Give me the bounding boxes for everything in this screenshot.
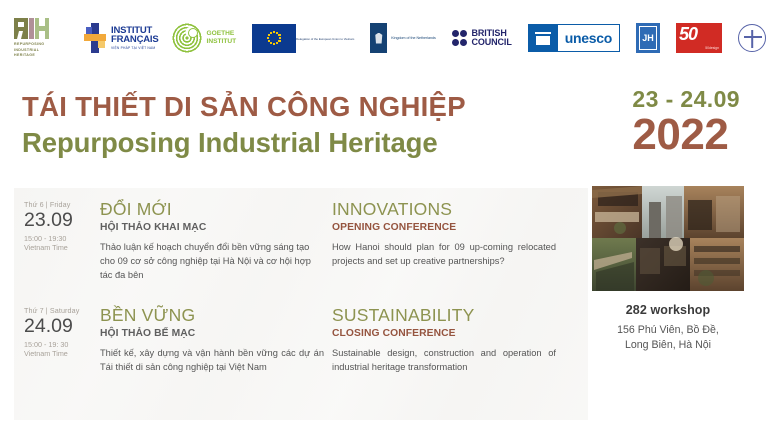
session-1-vietnamese: ĐỔI MỚI HỘI THẢO KHAI MẠC Thảo luận kế h… [100, 200, 332, 283]
session-2-vietnamese: BỀN VỮNG HỘI THẢO BẾ MẠC Thiết kế, xây d… [100, 306, 332, 375]
venue-address-line1: 156 Phú Viên, Bồ Đề, [617, 324, 719, 336]
fifty-design-logo: 50 50design [676, 23, 722, 53]
unesco-wordmark: unesco [558, 30, 619, 46]
page-title-vi: TÁI THIẾT DI SẢN CÔNG NGHIỆP [22, 92, 466, 123]
event-date-days: 23 - 24.09 [632, 88, 740, 111]
fifty-number: 50 [679, 24, 697, 45]
venue-name: 282 workshop [592, 303, 744, 317]
sessions-panel: Thứ 6 | Friday 23.09 15:00 - 19:30 Vietn… [14, 188, 588, 420]
kingdom-of-the-netherlands-logo: Kingdom of the Netherlands [370, 23, 436, 53]
netherlands-caption: Kingdom of the Netherlands [391, 36, 436, 40]
fifty-caption: 50design [705, 46, 719, 50]
goethe-line1: GOETHE [206, 30, 236, 38]
poster-title-block: TÁI THIẾT DI SẢN CÔNG NGHIỆP Repurposing… [22, 92, 466, 159]
partner-logo-bar: REPURPOSINGINDUSTRIALHERITAGE INSTITUT F… [14, 10, 756, 66]
session-1-en-heading: INNOVATIONS [332, 200, 556, 219]
eu-logo-caption: Delegation of the European Union to Viet… [296, 37, 354, 41]
venue-address: 156 Phú Viên, Bồ Đề, Long Biên, Hà Nội [592, 323, 744, 352]
session-1-en-subheading: OPENING CONFERENCE [332, 222, 556, 233]
venue-photo-svg [592, 186, 744, 291]
session-1-timezone: Vietnam Time [24, 243, 100, 252]
session-2-english: SUSTAINABILITY CLOSING CONFERENCE Sustai… [332, 306, 564, 375]
event-date-block: 23 - 24.09 2022 [632, 88, 740, 158]
session-row-2: Thứ 7 | Saturday 24.09 15:00 - 19: 30 Vi… [14, 306, 588, 375]
institut-francais-line2: FRANÇAIS [111, 35, 158, 45]
session-1-day: 23.09 [24, 210, 100, 232]
rih-logo: REPURPOSINGINDUSTRIALHERITAGE [14, 17, 66, 59]
institut-francais-mark-icon [84, 23, 106, 53]
venue-photo-collage [592, 186, 744, 291]
venue-block: 282 workshop 156 Phú Viên, Bồ Đề, Long B… [592, 186, 744, 352]
institut-francais-logo: INSTITUT FRANÇAIS VIỆN PHÁP TẠI VIỆT NAM [84, 23, 158, 53]
session-1-weekday: Thứ 6 | Friday [24, 200, 100, 209]
session-2-day: 24.09 [24, 316, 100, 338]
session-row-1: Thứ 6 | Friday 23.09 15:00 - 19:30 Vietn… [14, 200, 588, 283]
session-1-english: INNOVATIONS OPENING CONFERENCE How Hanoi… [332, 200, 564, 283]
session-2-timezone: Vietnam Time [24, 349, 100, 358]
rih-monogram [14, 17, 66, 39]
session-1-vi-heading: ĐỔI MỚI [100, 200, 324, 219]
session-1-vi-description: Thảo luận kế hoạch chuyển đổi bền vững s… [100, 241, 324, 282]
rih-logo-caption: REPURPOSINGINDUSTRIALHERITAGE [14, 42, 66, 59]
eu-flag-icon [252, 24, 296, 53]
goethe-spiral-icon [172, 23, 202, 53]
session-1-en-description: How Hanoi should plan for 09 up-coming r… [332, 241, 556, 269]
goethe-institut-logo: GOETHE INSTITUT [172, 23, 236, 53]
institut-francais-line3: VIỆN PHÁP TẠI VIỆT NAM [111, 47, 158, 50]
venue-address-line2: Long Biên, Hà Nội [625, 339, 711, 351]
european-union-logo: Delegation of the European Union to Viet… [252, 24, 354, 53]
event-date-year: 2022 [632, 113, 740, 158]
rih-letter-h-icon [35, 18, 49, 39]
goethe-line2: INSTITUT [206, 38, 236, 46]
session-2-en-heading: SUSTAINABILITY [332, 306, 556, 325]
session-2-weekday: Thứ 7 | Saturday [24, 306, 100, 315]
unesco-logo: unesco [528, 24, 620, 52]
event-poster: REPURPOSINGINDUSTRIALHERITAGE INSTITUT F… [0, 0, 768, 432]
hanoi-institute-logo [636, 23, 660, 53]
session-2-time: 15:00 - 19: 30 [24, 340, 100, 349]
page-title-en: Repurposing Industrial Heritage [22, 126, 466, 159]
session-2-date: Thứ 7 | Saturday 24.09 15:00 - 19: 30 Vi… [14, 306, 100, 375]
british-council-logo: BRITISH COUNCIL [452, 29, 512, 48]
session-1-date: Thứ 6 | Friday 23.09 15:00 - 19:30 Vietn… [14, 200, 100, 283]
rih-letter-r-icon [14, 18, 28, 39]
session-2-vi-heading: BỀN VỮNG [100, 306, 324, 325]
session-2-en-subheading: CLOSING CONFERENCE [332, 328, 556, 339]
architecture-seal-logo [738, 24, 766, 52]
session-1-time: 15:00 - 19:30 [24, 234, 100, 243]
rih-letter-i-icon [29, 18, 34, 39]
unesco-temple-icon [529, 25, 558, 51]
british-council-line2: COUNCIL [471, 38, 511, 47]
session-2-en-description: Sustainable design, construction and ope… [332, 347, 556, 375]
session-1-vi-subheading: HỘI THẢO KHAI MẠC [100, 222, 324, 233]
session-2-vi-subheading: HỘI THẢO BẾ MẠC [100, 328, 324, 339]
netherlands-lion-icon [370, 23, 387, 53]
session-2-vi-description: Thiết kế, xây dựng và vận hành bền vững … [100, 347, 324, 375]
british-council-dots-icon [452, 30, 468, 46]
